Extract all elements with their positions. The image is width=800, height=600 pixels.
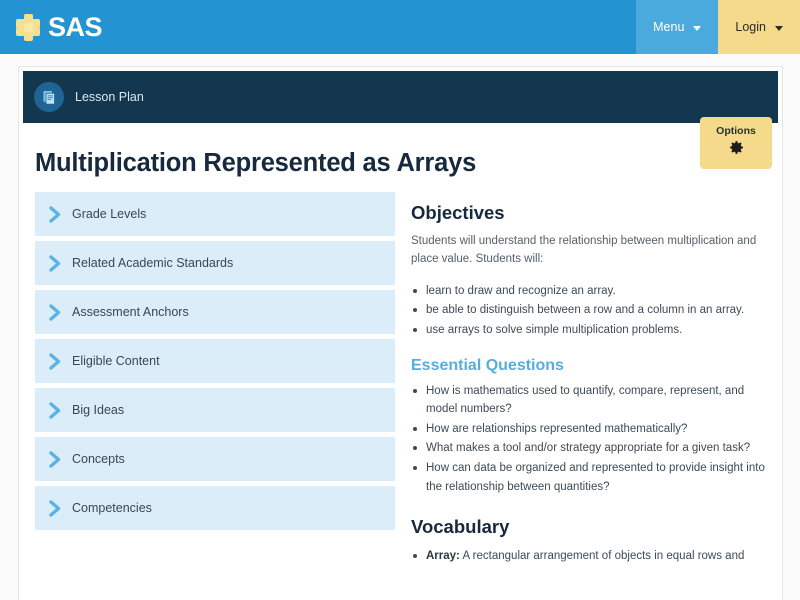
vocabulary-list: Array: A rectangular arrangement of obje… [411, 547, 773, 566]
accordion-item-related-academic-standards[interactable]: Related Academic Standards [35, 241, 395, 285]
options-button-label: Options [716, 125, 756, 137]
vocabulary-term: Array: [426, 550, 460, 562]
objectives-intro: Students will understand the relationshi… [411, 233, 763, 269]
objectives-heading: Objectives [411, 202, 773, 224]
accordion-item-label: Concepts [72, 452, 125, 466]
accordion-item-label: Related Academic Standards [72, 256, 233, 270]
chevron-right-icon [49, 402, 62, 419]
page-root: SAS Menu Login Lesson Plan [0, 0, 800, 600]
accordion-item-label: Assessment Anchors [72, 305, 189, 319]
vocabulary-definition: A rectangular arrangement of objects in … [462, 550, 744, 562]
essential-questions-heading: Essential Questions [411, 357, 773, 375]
accordion-item-grade-levels[interactable]: Grade Levels [35, 192, 395, 236]
brand-name: SAS [48, 14, 102, 41]
lesson-plan-banner: Lesson Plan [23, 71, 778, 123]
accordion-item-label: Grade Levels [72, 207, 146, 221]
chevron-right-icon [49, 206, 62, 223]
vocabulary-heading: Vocabulary [411, 516, 773, 538]
chevron-right-icon [49, 304, 62, 321]
site-header: SAS Menu Login [0, 0, 800, 54]
essential-questions-list: How is mathematics used to quantify, com… [411, 382, 773, 497]
list-item: use arrays to solve simple multiplicatio… [411, 321, 771, 340]
accordion-item-assessment-anchors[interactable]: Assessment Anchors [35, 290, 395, 334]
accordion-item-label: Competencies [72, 501, 152, 515]
accordion-panel: Grade Levels Related Academic Standards … [35, 192, 395, 583]
chevron-right-icon [49, 353, 62, 370]
objectives-list: learn to draw and recognize an array. be… [411, 282, 773, 340]
login-button-label: Login [735, 20, 766, 34]
list-item: What makes a tool and/or strategy approp… [411, 439, 771, 458]
chevron-right-icon [49, 451, 62, 468]
page-title: Multiplication Represented as Arrays [35, 149, 782, 178]
lesson-plan-banner-label: Lesson Plan [75, 90, 144, 104]
accordion-item-concepts[interactable]: Concepts [35, 437, 395, 481]
chevron-down-icon [693, 26, 701, 31]
list-item: learn to draw and recognize an array. [411, 282, 771, 301]
list-item: be able to distinguish between a row and… [411, 301, 771, 320]
lesson-body: Grade Levels Related Academic Standards … [19, 188, 782, 583]
accordion-item-big-ideas[interactable]: Big Ideas [35, 388, 395, 432]
list-item: Array: A rectangular arrangement of obje… [411, 547, 771, 566]
accordion-item-label: Eligible Content [72, 354, 160, 368]
lesson-plan-card: Lesson Plan Multiplication Represented a… [18, 66, 783, 600]
chevron-down-icon [775, 26, 783, 31]
sas-flower-logo-icon [15, 14, 41, 40]
chevron-right-icon [49, 500, 62, 517]
menu-button-label: Menu [653, 20, 684, 34]
document-icon [34, 82, 64, 112]
brand-logo-link[interactable]: SAS [0, 0, 636, 54]
gear-icon [728, 139, 745, 161]
accordion-item-label: Big Ideas [72, 403, 124, 417]
list-item: How is mathematics used to quantify, com… [411, 382, 771, 419]
menu-button[interactable]: Menu [636, 0, 718, 54]
options-button[interactable]: Options [700, 117, 772, 169]
accordion-item-competencies[interactable]: Competencies [35, 486, 395, 530]
title-row: Multiplication Represented as Arrays Opt… [19, 123, 782, 188]
login-button[interactable]: Login [718, 0, 800, 54]
accordion-item-eligible-content[interactable]: Eligible Content [35, 339, 395, 383]
chevron-right-icon [49, 255, 62, 272]
content-panel: Objectives Students will understand the … [411, 192, 773, 583]
list-item: How can data be organized and represente… [411, 459, 771, 496]
list-item: How are relationships represented mathem… [411, 420, 771, 439]
